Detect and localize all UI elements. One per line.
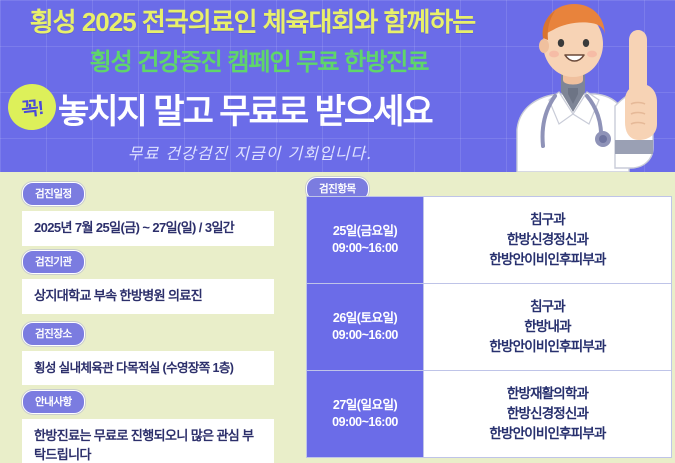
section-label-badge-notice: 안내사항 bbox=[22, 390, 85, 414]
department-name: 한방안이비인후피부과 bbox=[428, 250, 667, 270]
emphasis-circle-badge: 꼭! bbox=[6, 82, 59, 133]
schedule-table-section: 검진항목 25일(금요일) 09:00~16:00 침구과 한방신경정신과 한방… bbox=[302, 172, 675, 463]
section-value-notice: 한방진료는 무료로 진행되오니 많은 관심 부탁드립니다 bbox=[22, 419, 274, 463]
row-time: 09:00~16:00 bbox=[309, 240, 421, 257]
department-name: 한방재활의학과 bbox=[428, 384, 667, 404]
header-script-tagline: 무료 건강검진 지금이 기회입니다. bbox=[0, 140, 500, 164]
section-label-badge-institution: 검진기관 bbox=[22, 250, 85, 274]
table-row: 26일(토요일) 09:00~16:00 침구과 한방내과 한방안이비인후피부과 bbox=[307, 284, 672, 371]
section-label-badge-schedule: 검진일정 bbox=[22, 182, 85, 206]
info-section-institution: 검진기관 상지대학교 부속 한방병원 의료진 bbox=[22, 250, 274, 314]
section-value-location: 횡성 실내체육관 다목적실 (수영장쪽 1층) bbox=[22, 351, 274, 385]
header-title-line3: 놓치지 말고 무료로 받으세요 bbox=[58, 84, 518, 133]
department-name: 한방신경정신과 bbox=[428, 404, 667, 424]
row-date: 25일(금요일) bbox=[309, 223, 421, 240]
info-section-schedule: 검진일정 2025년 7월 25일(금) ~ 27일(일) / 3일간 bbox=[22, 182, 274, 246]
poster-root: 횡성 2025 전국의료인 체육대회와 함께하는 횡성 건강증진 캠페인 무료 … bbox=[0, 0, 675, 463]
row-time: 09:00~16:00 bbox=[309, 414, 421, 431]
header-title-line2: 횡성 건강증진 캠페인 무료 한방진료 bbox=[0, 42, 518, 77]
department-name: 침구과 bbox=[428, 297, 667, 317]
department-name: 한방안이비인후피부과 bbox=[428, 424, 667, 444]
table-cell-departments: 한방재활의학과 한방신경정신과 한방안이비인후피부과 bbox=[424, 371, 672, 458]
section-value-institution: 상지대학교 부속 한방병원 의료진 bbox=[22, 279, 274, 314]
table-row: 27일(일요일) 09:00~16:00 한방재활의학과 한방신경정신과 한방안… bbox=[307, 371, 672, 458]
info-section-notice: 안내사항 한방진료는 무료로 진행되오니 많은 관심 부탁드립니다 bbox=[22, 390, 274, 463]
department-name: 한방신경정신과 bbox=[428, 230, 667, 250]
table-row: 25일(금요일) 09:00~16:00 침구과 한방신경정신과 한방안이비인후… bbox=[307, 197, 672, 284]
department-name: 한방안이비인후피부과 bbox=[428, 337, 667, 357]
table-cell-departments: 침구과 한방신경정신과 한방안이비인후피부과 bbox=[424, 197, 672, 284]
row-time: 09:00~16:00 bbox=[309, 327, 421, 344]
table-cell-date: 25일(금요일) 09:00~16:00 bbox=[307, 197, 424, 284]
content-area: 검진일정 2025년 7월 25일(금) ~ 27일(일) / 3일간 검진기관… bbox=[0, 172, 675, 463]
section-value-schedule: 2025년 7월 25일(금) ~ 27일(일) / 3일간 bbox=[22, 211, 274, 246]
row-date: 26일(토요일) bbox=[309, 310, 421, 327]
row-date: 27일(일요일) bbox=[309, 397, 421, 414]
info-section-location: 검진장소 횡성 실내체육관 다목적실 (수영장쪽 1층) bbox=[22, 322, 274, 385]
table-cell-departments: 침구과 한방내과 한방안이비인후피부과 bbox=[424, 284, 672, 371]
department-name: 한방내과 bbox=[428, 317, 667, 337]
section-label-badge-location: 검진장소 bbox=[22, 322, 85, 346]
department-name: 침구과 bbox=[428, 210, 667, 230]
schedule-table: 25일(금요일) 09:00~16:00 침구과 한방신경정신과 한방안이비인후… bbox=[306, 196, 672, 458]
header-title-line1: 횡성 2025 전국의료인 체육대회와 함께하는 bbox=[0, 2, 505, 39]
table-cell-date: 27일(일요일) 09:00~16:00 bbox=[307, 371, 424, 458]
doctor-pointing-up-illustration bbox=[475, 0, 671, 172]
table-cell-date: 26일(토요일) 09:00~16:00 bbox=[307, 284, 424, 371]
info-column: 검진일정 2025년 7월 25일(금) ~ 27일(일) / 3일간 검진기관… bbox=[0, 172, 300, 463]
header-banner: 횡성 2025 전국의료인 체육대회와 함께하는 횡성 건강증진 캠페인 무료 … bbox=[0, 0, 675, 172]
